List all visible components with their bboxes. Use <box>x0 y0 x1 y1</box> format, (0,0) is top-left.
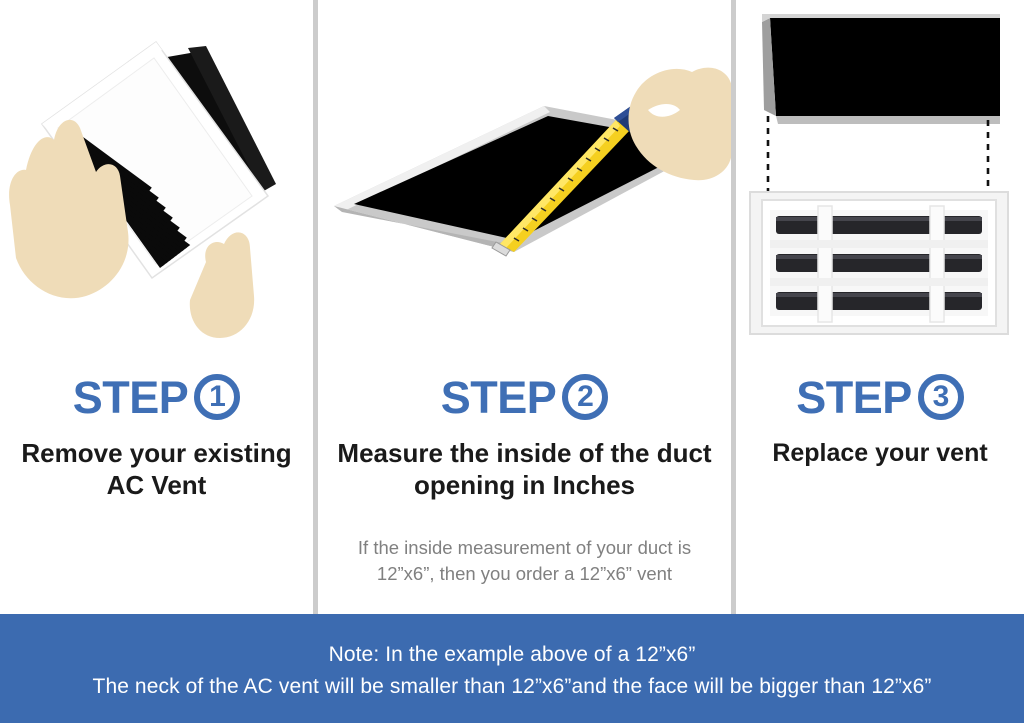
step-2-description: Measure the inside of the duct opening i… <box>318 438 731 501</box>
step-2-captions: STEP 2 Measure the inside of the duct op… <box>318 374 731 586</box>
step-3-heading: STEP 3 <box>736 374 1024 420</box>
circled-number-one-icon: 1 <box>194 374 240 420</box>
step-1-captions: STEP 1 Remove your existing AC Vent <box>0 374 313 501</box>
step-1-word: STEP <box>73 375 189 420</box>
note-bar: Note: In the example above of a 12”x6” T… <box>0 614 1024 723</box>
step-3-description: Replace your vent <box>736 438 1024 469</box>
note-line-1: Note: In the example above of a 12”x6” <box>0 639 1024 671</box>
step-column-1: STEP 1 Remove your existing AC Vent <box>0 0 313 614</box>
step-1-heading: STEP 1 <box>0 374 313 420</box>
step-2-heading: STEP 2 <box>318 374 731 420</box>
step-3-word: STEP <box>796 375 912 420</box>
circled-number-two-icon: 2 <box>562 374 608 420</box>
step-1-description: Remove your existing AC Vent <box>0 438 313 501</box>
step-column-3: STEP 3 Replace your vent <box>736 0 1024 614</box>
instructional-infographic: STEP 1 Remove your existing AC Vent <box>0 0 1024 723</box>
note-line-2: The neck of the AC vent will be smaller … <box>0 671 1024 703</box>
hand-with-tape-measure-on-duct-opening-illustration <box>318 0 731 360</box>
circled-number-three-icon: 3 <box>918 374 964 420</box>
step-3-captions: STEP 3 Replace your vent <box>736 374 1024 469</box>
vent-aligned-under-duct-opening-illustration <box>736 0 1024 360</box>
step-2-subtext: If the inside measurement of your duct i… <box>318 535 731 586</box>
step-2-word: STEP <box>441 375 557 420</box>
step-column-2: STEP 2 Measure the inside of the duct op… <box>318 0 731 614</box>
hands-removing-louvered-vent-illustration <box>0 0 313 360</box>
